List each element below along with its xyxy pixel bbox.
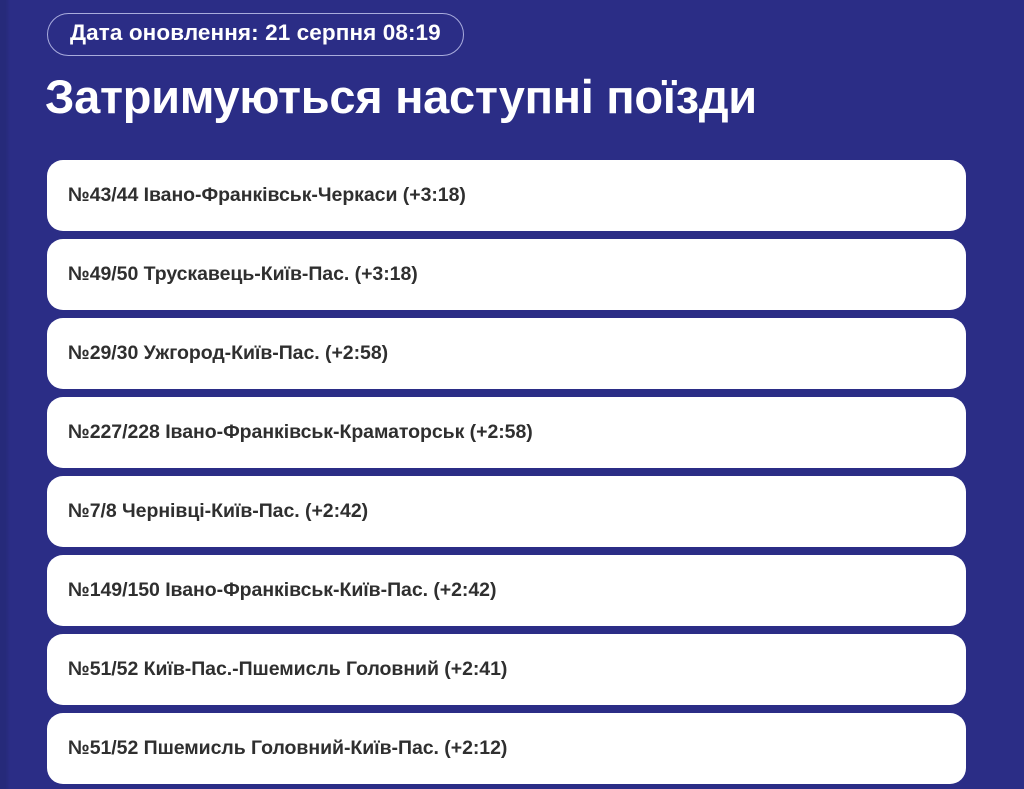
list-item[interactable]: №7/8 Чернівці-Київ-Пас. (+2:42) [47, 476, 966, 547]
train-label: №149/150 Івано-Франківськ-Київ-Пас. (+2:… [68, 579, 496, 602]
train-label: №43/44 Івано-Франківськ-Черкаси (+3:18) [68, 184, 466, 207]
list-item[interactable]: №227/228 Івано-Франківськ-Краматорськ (+… [47, 397, 966, 468]
left-edge-accent-band [0, 0, 10, 789]
list-item[interactable]: №29/30 Ужгород-Київ-Пас. (+2:58) [47, 318, 966, 389]
list-item[interactable]: №43/44 Івано-Франківськ-Черкаси (+3:18) [47, 160, 966, 231]
page-root: Дата оновлення: 21 серпня 08:19 Затримую… [0, 0, 1024, 789]
list-item[interactable]: №49/50 Трускавець-Київ-Пас. (+3:18) [47, 239, 966, 310]
train-label: №227/228 Івано-Франківськ-Краматорськ (+… [68, 421, 533, 444]
list-item[interactable]: №51/52 Пшемисль Головний-Київ-Пас. (+2:1… [47, 713, 966, 784]
update-date-label: Дата оновлення: 21 серпня 08:19 [70, 22, 441, 45]
train-label: №7/8 Чернівці-Київ-Пас. (+2:42) [68, 500, 368, 523]
list-item[interactable]: №149/150 Івано-Франківськ-Київ-Пас. (+2:… [47, 555, 966, 626]
page-title: Затримуються наступні поїзди [45, 70, 757, 124]
train-label: №51/52 Київ-Пас.-Пшемисль Головний (+2:4… [68, 658, 507, 681]
list-item[interactable]: №51/52 Київ-Пас.-Пшемисль Головний (+2:4… [47, 634, 966, 705]
delayed-train-list: №43/44 Івано-Франківськ-Черкаси (+3:18) … [47, 160, 966, 789]
train-label: №49/50 Трускавець-Київ-Пас. (+3:18) [68, 263, 418, 286]
train-label: №29/30 Ужгород-Київ-Пас. (+2:58) [68, 342, 388, 365]
update-date-badge: Дата оновлення: 21 серпня 08:19 [47, 13, 464, 56]
train-label: №51/52 Пшемисль Головний-Київ-Пас. (+2:1… [68, 737, 507, 760]
